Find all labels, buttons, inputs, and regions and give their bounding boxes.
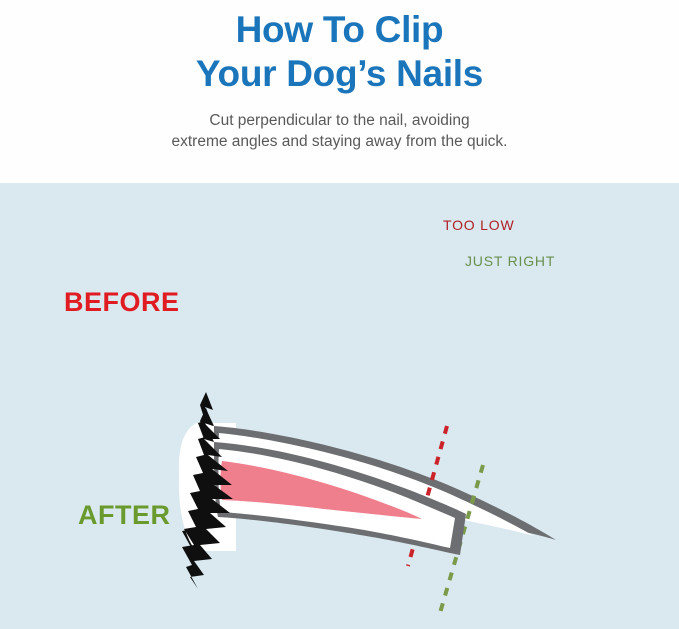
cut-label-just-right: JUST RIGHT	[465, 253, 555, 269]
illustration-panel: BEFORE AFTER TOO LOW JUST RIGHT	[0, 183, 679, 629]
page-title-line-1: How To Clip	[0, 8, 679, 52]
stage-label-after: AFTER	[78, 500, 171, 531]
page-title: How To Clip Your Dog’s Nails	[0, 0, 679, 96]
header-section: How To Clip Your Dog’s Nails Cut perpend…	[0, 0, 679, 183]
page-subtitle-line-2: extreme angles and staying away from the…	[0, 131, 679, 152]
stage-label-before: BEFORE	[64, 287, 180, 318]
nail-diagram-svg	[0, 183, 679, 629]
page-subtitle: Cut perpendicular to the nail, avoiding …	[0, 96, 679, 152]
page-title-line-2: Your Dog’s Nails	[0, 52, 679, 96]
cut-label-too-low: TOO LOW	[443, 217, 514, 233]
page-subtitle-line-1: Cut perpendicular to the nail, avoiding	[0, 110, 679, 131]
infographic-page: How To Clip Your Dog’s Nails Cut perpend…	[0, 0, 679, 629]
